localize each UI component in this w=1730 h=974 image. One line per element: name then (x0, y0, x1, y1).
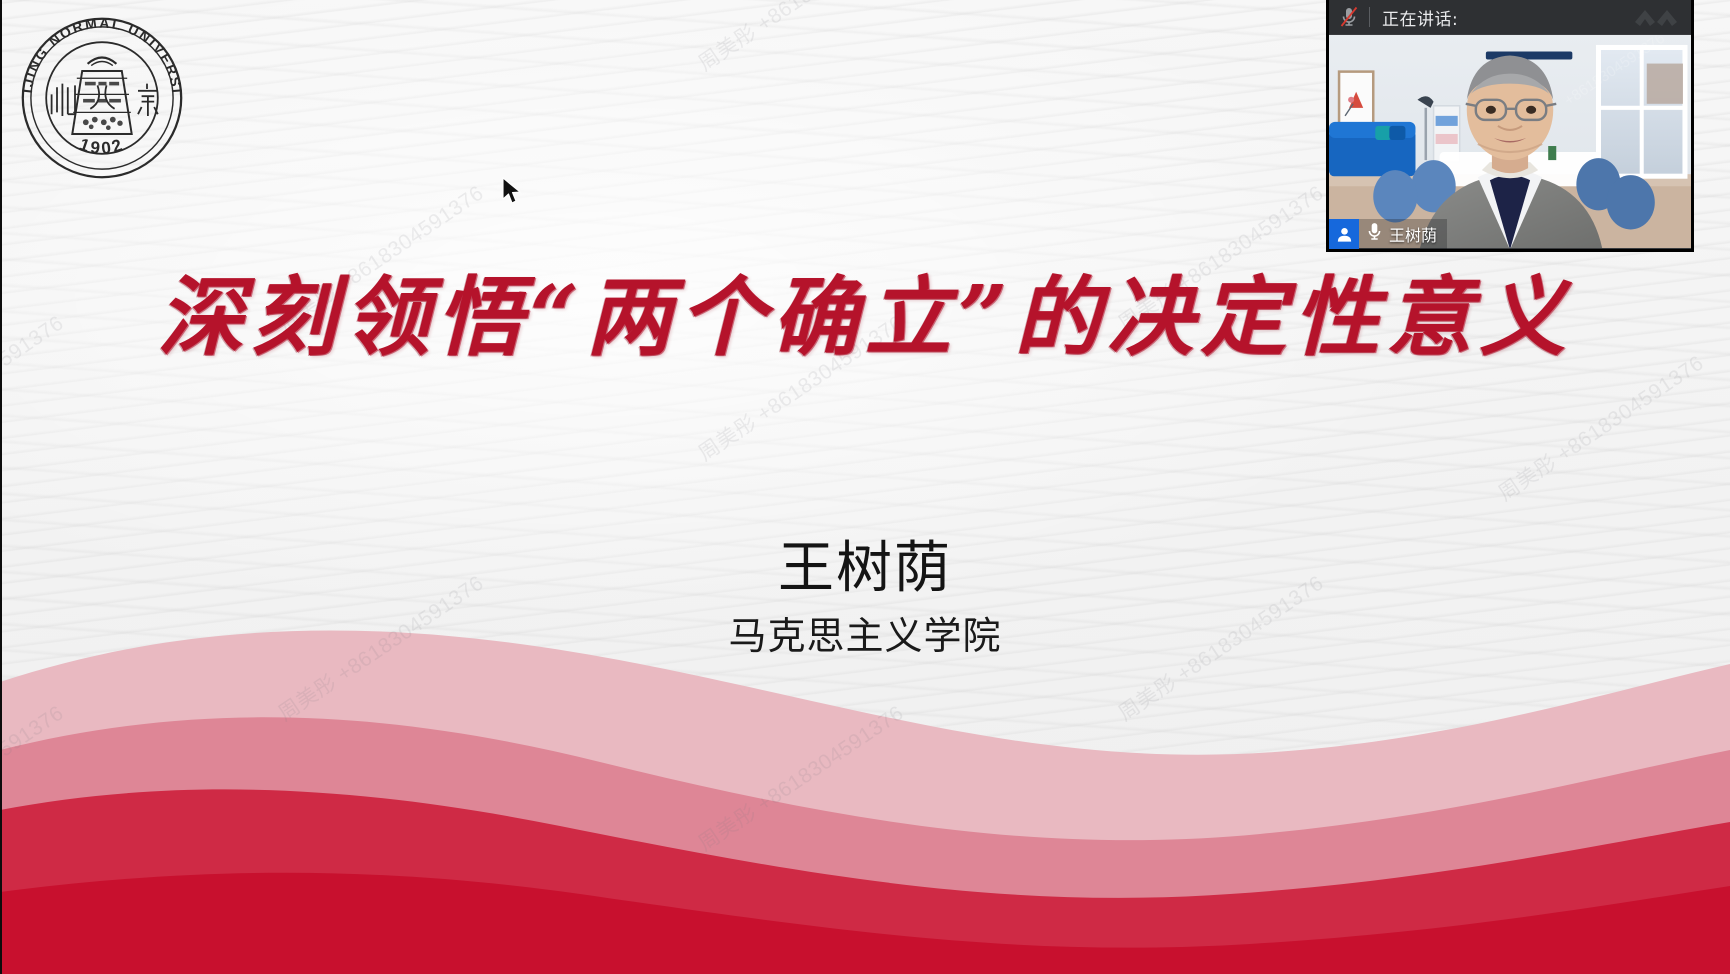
header-divider (1369, 7, 1370, 27)
participant-video-tile[interactable]: +8618304591376 (1329, 34, 1691, 249)
participant-name-label: 王树荫 (1389, 222, 1437, 246)
page-title: 深刻领悟“两个确立”的决定性意义 (0, 272, 1730, 365)
microphone-icon (1367, 222, 1382, 246)
presenter-organization: 马克思主义学院 (0, 616, 1730, 658)
speaking-status-label: 正在讲话: (1382, 5, 1458, 30)
app-logo-icon (1633, 4, 1685, 30)
person-icon (1329, 219, 1359, 249)
screen: 周美彤 +8618304591376 周美彤 +8618304591376 周美… (0, 0, 1730, 974)
microphone-muted-icon[interactable] (1339, 6, 1359, 28)
beijing-normal-university-seal-icon: BEIJING NORMAL UNIVERSITY 1902 (12, 8, 192, 188)
mouse-pointer-icon (502, 177, 524, 207)
participant-info-bar: 王树荫 (1329, 219, 1447, 249)
screen-edge (0, 0, 2, 974)
presenter-name: 王树荫 (0, 538, 1730, 600)
video-conference-panel[interactable]: 正在讲话: (1326, 0, 1694, 252)
video-panel-header: 正在讲话: (1329, 0, 1691, 34)
